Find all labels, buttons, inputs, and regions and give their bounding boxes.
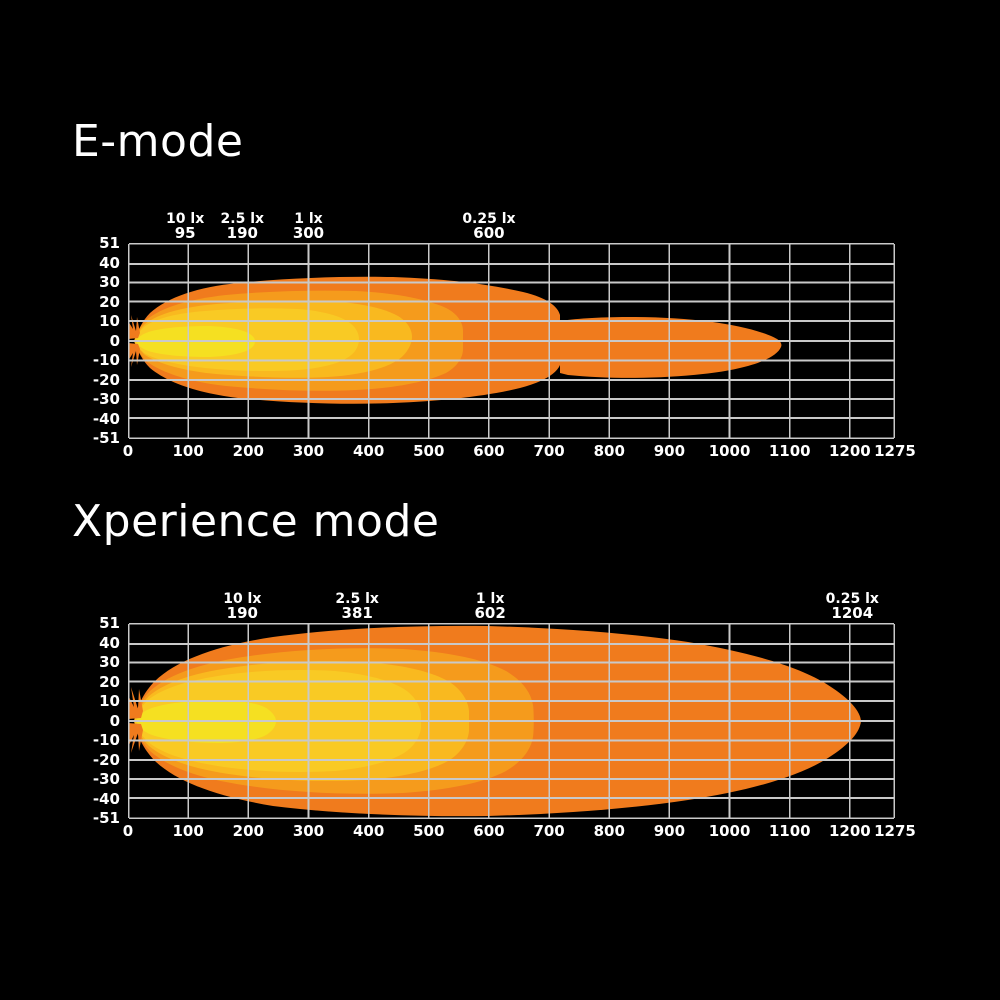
y-tick-label: -40 bbox=[93, 412, 120, 427]
x-tick-label: 1000 bbox=[709, 824, 751, 839]
y-tick-label: 40 bbox=[99, 256, 120, 271]
lux-marker-distance: 602 bbox=[474, 606, 505, 622]
y-tick-label: -30 bbox=[93, 392, 120, 407]
lux-marker: 0.25 lx600 bbox=[462, 212, 515, 242]
y-tick-label: -40 bbox=[93, 792, 120, 807]
y-tick-label: 30 bbox=[99, 655, 120, 670]
y-tick-label: -20 bbox=[93, 373, 120, 388]
x-tick-label: 1200 bbox=[829, 444, 871, 459]
x-tick-label: 800 bbox=[594, 824, 625, 839]
y-tick-label: 20 bbox=[99, 675, 120, 690]
x-tick-label: 300 bbox=[293, 444, 324, 459]
y-tick-label: -10 bbox=[93, 733, 120, 748]
x-tick-label: 1275 bbox=[874, 444, 916, 459]
y-tick-label: 51 bbox=[99, 616, 120, 631]
lux-marker-distance: 95 bbox=[166, 226, 204, 242]
y-tick-label: -51 bbox=[93, 431, 120, 446]
y-tick-label: 10 bbox=[99, 694, 120, 709]
y-tick-label: -10 bbox=[93, 353, 120, 368]
beam-pattern-svg-e-mode bbox=[128, 243, 895, 439]
lux-marker-distance: 300 bbox=[293, 226, 324, 242]
y-axis-labels-xperience-mode: 51403020100-10-20-30-40-51 bbox=[62, 623, 120, 819]
x-tick-label: 700 bbox=[533, 444, 564, 459]
x-tick-label: 1000 bbox=[709, 444, 751, 459]
lux-marker: 10 lx95 bbox=[166, 212, 204, 242]
y-tick-label: 51 bbox=[99, 236, 120, 251]
chart-title-xperience-mode: Xperience mode bbox=[72, 500, 439, 544]
lux-marker: 10 lx190 bbox=[223, 592, 261, 622]
x-tick-label: 500 bbox=[413, 444, 444, 459]
lux-marker: 0.25 lx1204 bbox=[826, 592, 879, 622]
x-tick-label: 1275 bbox=[874, 824, 916, 839]
x-tick-label: 700 bbox=[533, 824, 564, 839]
y-tick-label: -51 bbox=[93, 811, 120, 826]
y-tick-label: -20 bbox=[93, 753, 120, 768]
x-tick-label: 1100 bbox=[769, 444, 811, 459]
x-tick-label: 600 bbox=[473, 444, 504, 459]
lux-marker-distance: 1204 bbox=[826, 606, 879, 622]
x-tick-label: 200 bbox=[233, 824, 264, 839]
lux-marker: 2.5 lx381 bbox=[335, 592, 379, 622]
chart-title-e-mode: E-mode bbox=[72, 120, 243, 164]
lux-marker: 1 lx602 bbox=[474, 592, 505, 622]
x-tick-label: 500 bbox=[413, 824, 444, 839]
y-tick-label: 0 bbox=[110, 714, 120, 729]
x-tick-label: 300 bbox=[293, 824, 324, 839]
x-tick-label: 400 bbox=[353, 444, 384, 459]
lux-marker-row-e-mode: 10 lx952.5 lx1901 lx3000.25 lx600 bbox=[128, 210, 895, 243]
plot-area-wrapper-e-mode: 10 lx952.5 lx1901 lx3000.25 lx600 514030… bbox=[0, 210, 1000, 450]
x-tick-label: 100 bbox=[173, 444, 204, 459]
x-tick-label: 0 bbox=[123, 444, 133, 459]
lux-marker-distance: 381 bbox=[335, 606, 379, 622]
beam-pattern-svg-xperience-mode bbox=[128, 623, 895, 819]
x-tick-label: 400 bbox=[353, 824, 384, 839]
x-axis-labels-e-mode: 0100200300400500600700800900100011001200… bbox=[128, 444, 895, 470]
x-tick-label: 1200 bbox=[829, 824, 871, 839]
plot-xperience-mode bbox=[128, 623, 895, 819]
y-axis-labels-e-mode: 51403020100-10-20-30-40-51 bbox=[62, 243, 120, 439]
lux-marker-distance: 190 bbox=[221, 226, 265, 242]
grid-e-mode bbox=[129, 244, 894, 438]
y-tick-label: 40 bbox=[99, 636, 120, 651]
lux-marker: 2.5 lx190 bbox=[221, 212, 265, 242]
x-tick-label: 100 bbox=[173, 824, 204, 839]
y-tick-label: 20 bbox=[99, 295, 120, 310]
x-tick-label: 600 bbox=[473, 824, 504, 839]
isolux-diagram-page: E-mode 10 lx952.5 lx1901 lx3000.25 lx600… bbox=[0, 0, 1000, 1000]
lux-marker-distance: 600 bbox=[462, 226, 515, 242]
x-tick-label: 200 bbox=[233, 444, 264, 459]
lux-marker: 1 lx300 bbox=[293, 212, 324, 242]
y-tick-label: -30 bbox=[93, 772, 120, 787]
x-tick-label: 900 bbox=[654, 444, 685, 459]
y-tick-label: 0 bbox=[110, 334, 120, 349]
plot-area-wrapper-xperience-mode: 10 lx1902.5 lx3811 lx6020.25 lx1204 5140… bbox=[0, 590, 1000, 830]
x-tick-label: 1100 bbox=[769, 824, 811, 839]
x-tick-label: 0 bbox=[123, 824, 133, 839]
x-tick-label: 800 bbox=[594, 444, 625, 459]
lux-marker-distance: 190 bbox=[223, 606, 261, 622]
y-tick-label: 10 bbox=[99, 314, 120, 329]
x-tick-label: 900 bbox=[654, 824, 685, 839]
x-axis-labels-xperience-mode: 0100200300400500600700800900100011001200… bbox=[128, 824, 895, 850]
plot-e-mode bbox=[128, 243, 895, 439]
y-tick-label: 30 bbox=[99, 275, 120, 290]
lux-marker-row-xperience-mode: 10 lx1902.5 lx3811 lx6020.25 lx1204 bbox=[128, 590, 895, 623]
